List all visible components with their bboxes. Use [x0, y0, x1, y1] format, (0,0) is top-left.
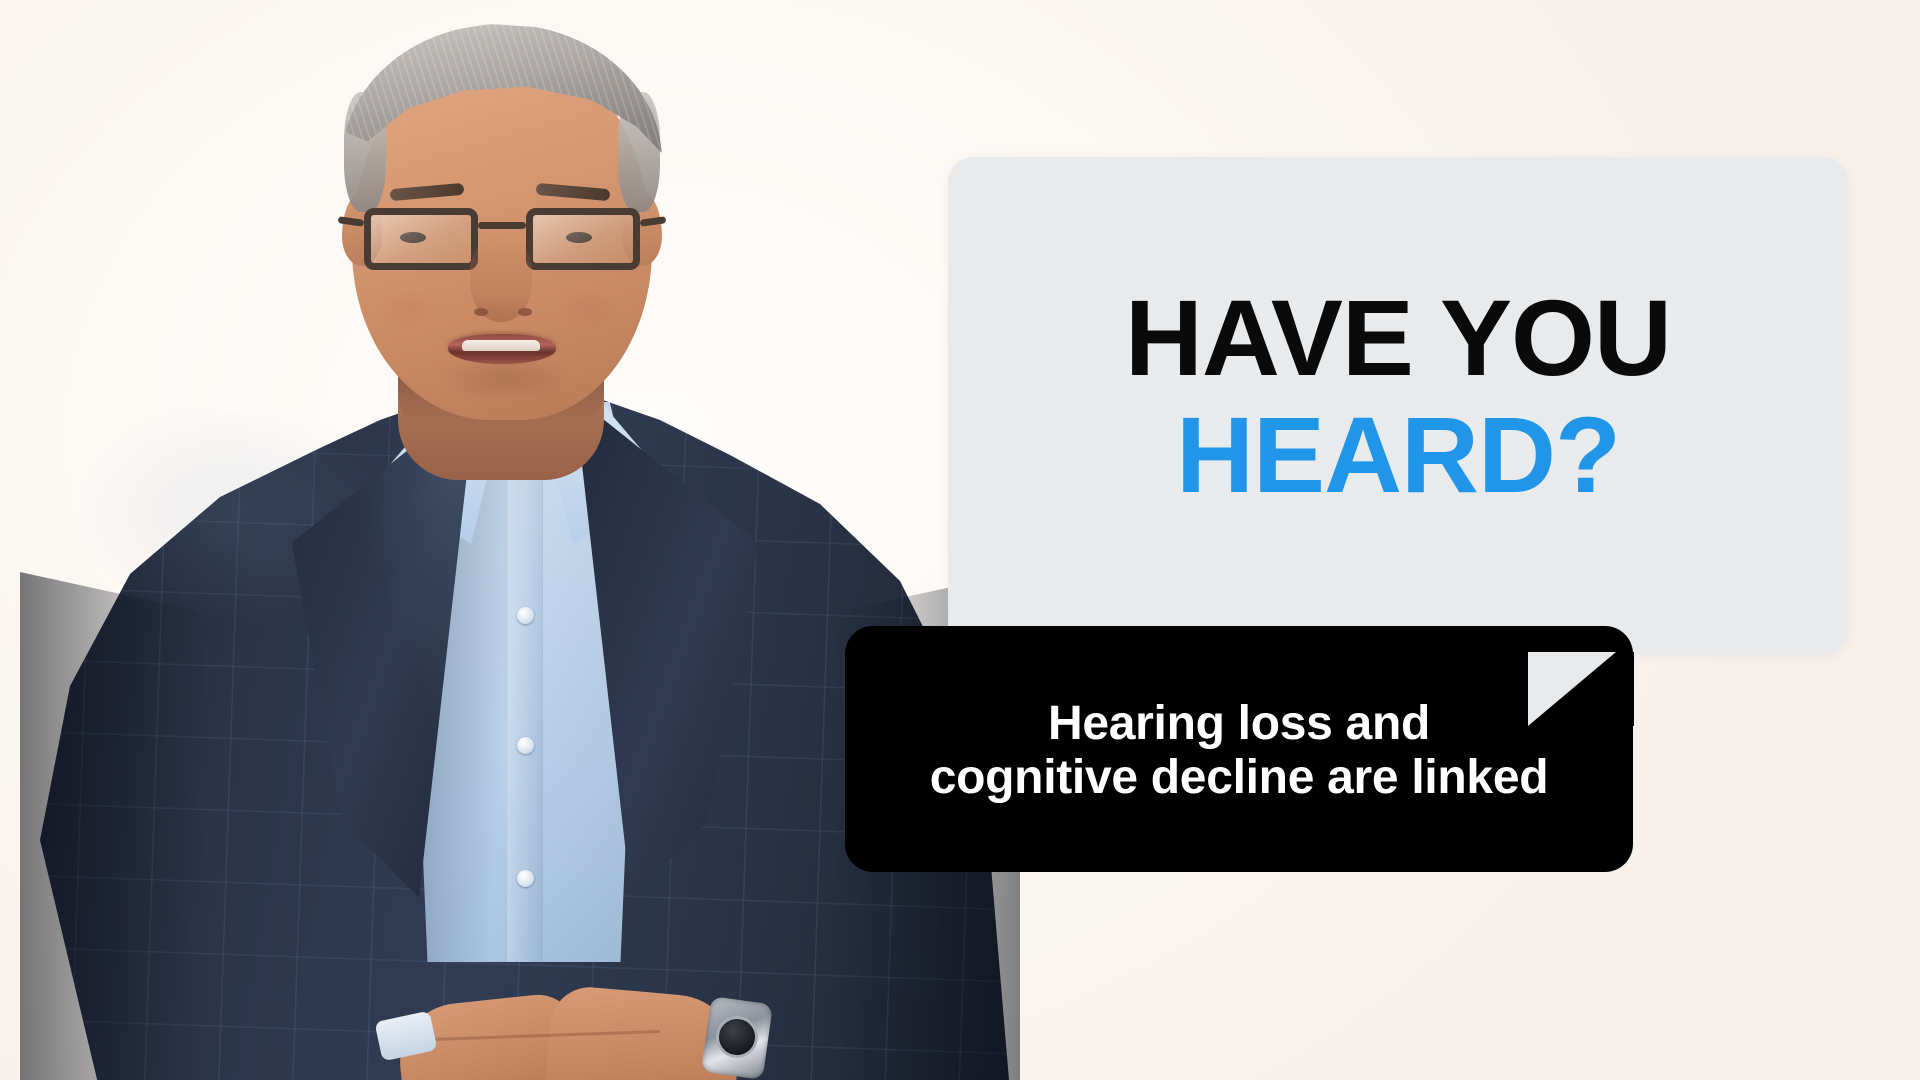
video-still-stage: HAVE YOU HEARD? Hearing loss and cogniti…	[0, 0, 1920, 1080]
headline-line-2: HEARD?	[1176, 399, 1620, 511]
headline-text-block: HAVE YOU HEARD?	[948, 157, 1848, 655]
lens-left	[364, 208, 478, 270]
glasses-bridge	[478, 222, 526, 229]
cheek-left	[372, 280, 446, 338]
nostril-right	[518, 308, 532, 316]
presenter-figure	[0, 0, 1040, 1080]
shirt-button	[517, 607, 534, 624]
chin-shadow	[418, 360, 590, 420]
lens-right	[526, 208, 640, 270]
teeth	[462, 340, 540, 351]
caption-text-block: Hearing loss and cognitive decline are l…	[845, 626, 1633, 872]
caption-line-1: Hearing loss and	[1048, 697, 1430, 751]
nostril-left	[474, 308, 488, 316]
caption-speech-bubble: Hearing loss and cognitive decline are l…	[845, 626, 1633, 872]
shirt-placket	[507, 462, 543, 962]
caption-line-2: cognitive decline are linked	[930, 751, 1548, 805]
shirt-button	[517, 737, 534, 754]
shirt-button	[517, 870, 534, 887]
cheek-right	[552, 280, 626, 338]
headline-speech-bubble: HAVE YOU HEARD?	[948, 157, 1848, 655]
headline-line-1: HAVE YOU	[1125, 283, 1671, 393]
left-arm-shadow	[20, 572, 210, 1080]
